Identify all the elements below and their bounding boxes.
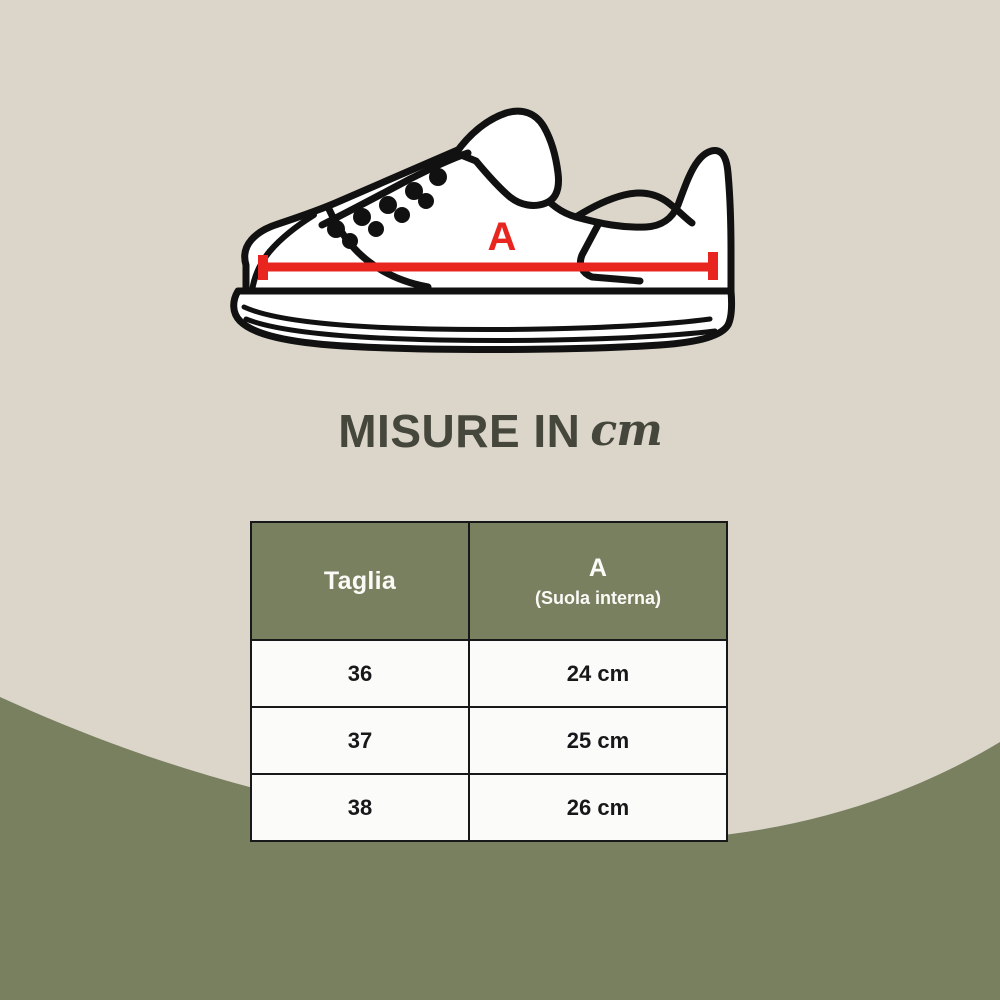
table-row: 37 25 cm xyxy=(251,707,727,774)
page-title: MISURE INcm xyxy=(0,408,1000,454)
sneaker-outline xyxy=(234,111,732,349)
table-header-a-label: A xyxy=(470,554,726,583)
measurement-label-a: A xyxy=(488,215,517,259)
table-header-taglia: Taglia xyxy=(251,522,469,640)
table-header-taglia-label: Taglia xyxy=(252,567,468,596)
cell-measure-36: 24 cm xyxy=(469,640,727,707)
size-table: Taglia A (Suola interna) 36 24 cm 37 25 … xyxy=(250,521,728,842)
cell-measure-38: 26 cm xyxy=(469,774,727,841)
title-unit-text: cm xyxy=(590,405,661,456)
table-row: 36 24 cm xyxy=(251,640,727,707)
size-chart-graphic: A MISURE INcm Taglia A (Suola interna) 3… xyxy=(0,0,1000,1000)
table-header-a-sublabel: (Suola interna) xyxy=(470,588,726,609)
title-main-text: MISURE IN xyxy=(338,405,580,457)
table-row: 38 26 cm xyxy=(251,774,727,841)
cell-measure-37: 25 cm xyxy=(469,707,727,774)
table-header-row: Taglia A (Suola interna) xyxy=(251,522,727,640)
cell-size-37: 37 xyxy=(251,707,469,774)
cell-size-38: 38 xyxy=(251,774,469,841)
sneaker-illustration: A xyxy=(210,95,770,355)
table-header-a: A (Suola interna) xyxy=(469,522,727,640)
cell-size-36: 36 xyxy=(251,640,469,707)
